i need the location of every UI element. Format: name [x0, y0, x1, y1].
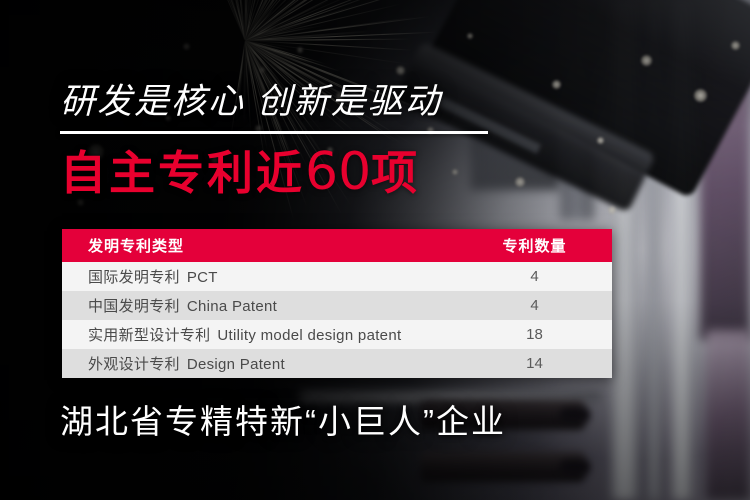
subtitle-prefix: 自主专利近 — [60, 147, 305, 199]
patent-type-cn: 实用新型设计专利 — [88, 327, 210, 344]
cell-patent-count: 14 — [467, 349, 612, 378]
patent-type-en: PCT — [187, 269, 218, 286]
table-body: 国际发明专利PCT4中国发明专利China Patent4实用新型设计专利Uti… — [62, 262, 612, 378]
patent-type-en: Design Patent — [187, 356, 285, 373]
page-footer-title: 湖北省专精特新“小巨人”企业 — [60, 400, 506, 444]
table-header-row: 发明专利类型 专利数量 — [62, 229, 612, 262]
column-header-count: 专利数量 — [467, 229, 612, 262]
cell-patent-count: 18 — [467, 320, 612, 349]
table-header: 发明专利类型 专利数量 — [62, 229, 612, 262]
subtitle-suffix: 项 — [371, 147, 420, 199]
cell-patent-type: 外观设计专利Design Patent — [62, 349, 467, 378]
patent-type-cn: 中国发明专利 — [88, 298, 180, 315]
cell-patent-type: 实用新型设计专利Utility model design patent — [62, 320, 467, 349]
cell-patent-type: 中国发明专利China Patent — [62, 291, 467, 320]
column-header-type: 发明专利类型 — [62, 229, 467, 262]
patent-table: 发明专利类型 专利数量 国际发明专利PCT4中国发明专利China Patent… — [62, 229, 612, 378]
patent-poster: 研发是核心 创新是驱动 自主专利近60项 发明专利类型 专利数量 国际发明专利P… — [0, 0, 750, 500]
table-row: 中国发明专利China Patent4 — [62, 291, 612, 320]
title-divider — [60, 131, 488, 134]
cell-patent-count: 4 — [467, 291, 612, 320]
table-row: 国际发明专利PCT4 — [62, 262, 612, 291]
patent-count-highlight: 60 — [305, 142, 371, 202]
table-row: 外观设计专利Design Patent14 — [62, 349, 612, 378]
patent-type-en: China Patent — [187, 298, 277, 315]
table-row: 实用新型设计专利Utility model design patent18 — [62, 320, 612, 349]
page-title: 研发是核心 创新是驱动 — [60, 80, 442, 124]
patent-type-cn: 外观设计专利 — [88, 356, 180, 373]
cell-patent-count: 4 — [467, 262, 612, 291]
page-subtitle: 自主专利近60项 — [60, 143, 420, 202]
patent-type-cn: 国际发明专利 — [88, 269, 180, 286]
cell-patent-type: 国际发明专利PCT — [62, 262, 467, 291]
patent-type-en: Utility model design patent — [217, 327, 401, 344]
